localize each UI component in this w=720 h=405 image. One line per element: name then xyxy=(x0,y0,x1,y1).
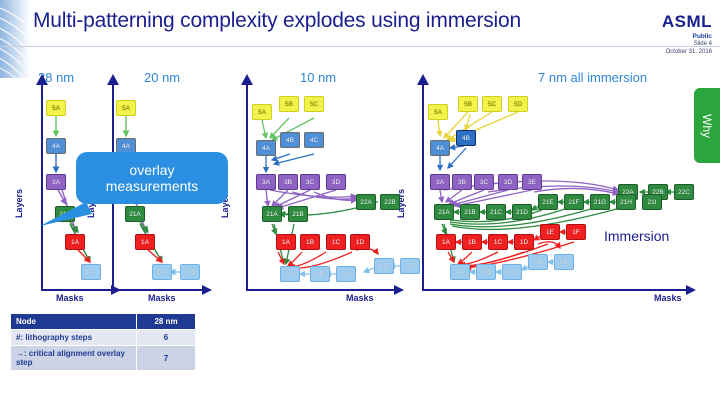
node-5A[interactable]: 5A xyxy=(428,104,448,120)
node-0A[interactable]: 0A xyxy=(152,264,172,280)
header-divider xyxy=(0,46,720,47)
table-row: →: critical alignment overlay step 7 xyxy=(11,346,196,371)
node-4A[interactable]: 4A xyxy=(256,140,276,156)
node-1A[interactable]: 1A xyxy=(436,234,456,250)
table-cell-value: 6 xyxy=(137,330,196,346)
node-3D[interactable]: 3D xyxy=(326,174,346,190)
callout-line-1: overlay xyxy=(129,162,174,178)
node-0D[interactable]: 0D xyxy=(374,258,394,274)
table-header-28nm: 28 nm xyxy=(137,314,196,330)
node-3E[interactable]: 3E xyxy=(522,174,542,190)
table-header-row: Node 28 nm xyxy=(11,314,196,330)
table-cell-label: #: lithography steps xyxy=(11,330,137,346)
chart-panel-7nm: 7 nm all immersion Layers Masks xyxy=(408,68,708,303)
slide-number: Slide 4 xyxy=(666,41,712,49)
node-21B[interactable]: 21B xyxy=(460,204,480,220)
chart-panel-10nm: 10 nm Layers Masks xyxy=(232,68,414,303)
node-5A[interactable]: 5A xyxy=(116,100,136,116)
node-4C[interactable]: 4C xyxy=(304,132,324,148)
node-1A[interactable]: 1A xyxy=(65,234,85,250)
node-1F[interactable]: 1F xyxy=(566,224,586,240)
node-0B[interactable]: 0B xyxy=(180,264,200,280)
confidentiality-label: Public xyxy=(666,33,712,41)
node-3A[interactable]: 3A xyxy=(46,174,66,190)
slide-meta: Public Slide 4 October 31, 2016 xyxy=(666,33,712,56)
node-3D[interactable]: 3D xyxy=(498,174,518,190)
node-5A[interactable]: 5A xyxy=(252,104,272,120)
node-21A[interactable]: 21A xyxy=(125,206,145,222)
node-1C[interactable]: 1C xyxy=(488,234,508,250)
node-0C[interactable]: 0C xyxy=(336,266,356,282)
node-1C[interactable]: 1C xyxy=(326,234,346,250)
page-title: Multi-patterning complexity explodes usi… xyxy=(33,9,633,33)
table-header-node: Node xyxy=(11,314,137,330)
node-1B[interactable]: 1B xyxy=(300,234,320,250)
node-21E[interactable]: 21E xyxy=(538,194,558,210)
overlay-measurements-callout: overlay measurements xyxy=(76,152,228,204)
node-21C[interactable]: 21C xyxy=(486,204,506,220)
node-4A[interactable]: 4A xyxy=(46,138,66,154)
node-21F[interactable]: 21F xyxy=(564,194,584,210)
node-0A[interactable]: 0A xyxy=(450,264,470,280)
node-5A[interactable]: 5A xyxy=(46,100,66,116)
node-5D[interactable]: 5D xyxy=(508,96,528,112)
node-21B[interactable]: 21B xyxy=(288,206,308,222)
node-3C[interactable]: 3C xyxy=(300,174,320,190)
node-3A[interactable]: 3A xyxy=(256,174,276,190)
node-1A[interactable]: 1A xyxy=(276,234,296,250)
node-5B[interactable]: 5B xyxy=(458,96,478,112)
node-0B[interactable]: 0B xyxy=(310,266,330,282)
node-0C[interactable]: 0C xyxy=(502,264,522,280)
table-cell-label: →: critical alignment overlay step xyxy=(11,346,137,371)
node-21A[interactable]: 21A xyxy=(434,204,454,220)
table-cell-value: 7 xyxy=(137,346,196,371)
node-5C[interactable]: 5C xyxy=(304,96,324,112)
node-3B[interactable]: 3B xyxy=(452,174,472,190)
node-0E[interactable]: 0E xyxy=(554,254,574,270)
node-3B[interactable]: 3B xyxy=(278,174,298,190)
node-21D[interactable]: 21D xyxy=(512,204,532,220)
node-0E[interactable]: 0E xyxy=(400,258,420,274)
slide-date: October 31, 2016 xyxy=(666,49,712,57)
node-22A[interactable]: 22A xyxy=(356,194,376,210)
node-4A[interactable]: 4A xyxy=(430,140,450,156)
node-5B[interactable]: 5B xyxy=(279,96,299,112)
node-0B[interactable]: 0B xyxy=(476,264,496,280)
node-1A[interactable]: 1A xyxy=(135,234,155,250)
node-0A[interactable]: 0A xyxy=(81,264,101,280)
node-5C[interactable]: 5C xyxy=(482,96,502,112)
node-21H[interactable]: 21H xyxy=(616,194,636,210)
node-4B[interactable]: 4B xyxy=(456,130,476,146)
node-21A[interactable]: 21A xyxy=(262,206,282,222)
node-1B[interactable]: 1B xyxy=(462,234,482,250)
node-3A[interactable]: 3A xyxy=(430,174,450,190)
node-1E[interactable]: 1E xyxy=(540,224,560,240)
node-0D[interactable]: 0D xyxy=(528,254,548,270)
node-1D[interactable]: 1D xyxy=(350,234,370,250)
node-4B[interactable]: 4B xyxy=(280,132,300,148)
node-summary-table: Node 28 nm #: lithography steps 6 →: cri… xyxy=(10,313,196,371)
callout-line-2: measurements xyxy=(106,178,199,194)
node-21I[interactable]: 21I xyxy=(642,194,662,210)
node-22B[interactable]: 22B xyxy=(380,194,400,210)
node-22C[interactable]: 22C xyxy=(674,184,694,200)
asml-logo: ASML xyxy=(662,12,712,32)
table-row: #: lithography steps 6 xyxy=(11,330,196,346)
node-0A[interactable]: 0A xyxy=(280,266,300,282)
node-21G[interactable]: 21G xyxy=(590,194,610,210)
node-1D[interactable]: 1D xyxy=(514,234,534,250)
node-3C[interactable]: 3C xyxy=(474,174,494,190)
